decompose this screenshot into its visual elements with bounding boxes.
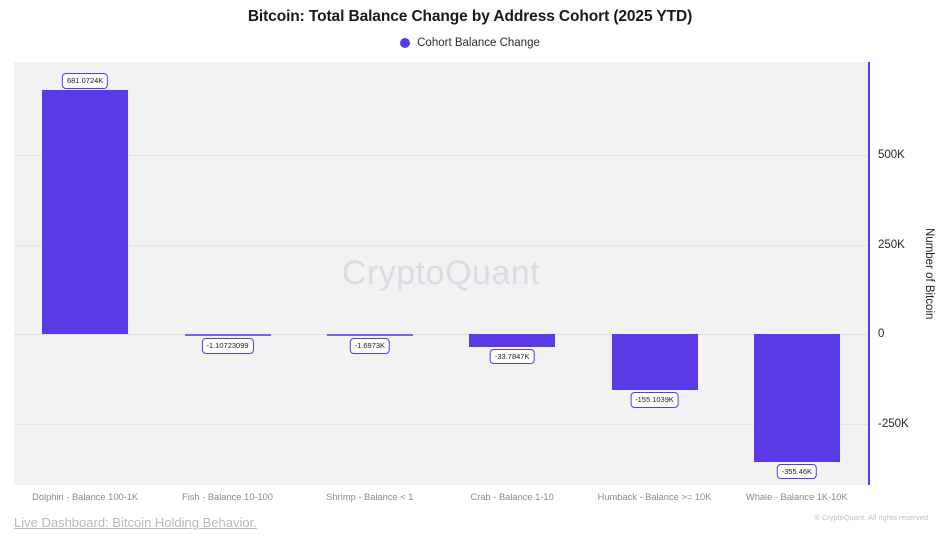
y-axis-spine xyxy=(868,62,870,485)
gridline xyxy=(14,424,868,425)
y-axis-tick-label: -250K xyxy=(878,418,909,430)
x-axis-tick-label: Humback - Balance >= 10K xyxy=(598,492,712,502)
y-axis-tick-label: 250K xyxy=(878,239,905,251)
bar-value-label: -355.46K xyxy=(777,464,817,480)
x-axis-tick-label: Dolphin - Balance 100-1K xyxy=(32,492,138,502)
watermark: CryptoQuant xyxy=(14,62,868,485)
y-axis-tick-label: 0 xyxy=(878,328,884,340)
y-axis-title: Number of Bitcoin xyxy=(920,62,938,485)
x-axis-tick-label: Shrimp - Balance < 1 xyxy=(326,492,413,502)
chart-legend: Cohort Balance Change xyxy=(0,37,940,49)
x-axis-tick-label: Crab - Balance 1-10 xyxy=(471,492,554,502)
bar-value-label: -33.7847K xyxy=(490,349,535,365)
chart-container: Bitcoin: Total Balance Change by Address… xyxy=(0,0,940,556)
bar[interactable] xyxy=(754,334,840,461)
bar[interactable] xyxy=(185,334,271,336)
gridline xyxy=(14,155,868,156)
bar[interactable] xyxy=(327,334,413,336)
x-axis-tick-label: Whale - Balance 1K-10K xyxy=(746,492,848,502)
bar-value-label: 681.0724K xyxy=(62,73,108,89)
bar[interactable] xyxy=(469,334,555,346)
bar-value-label: -1.6973K xyxy=(350,338,390,354)
bar-value-label: -155.1039K xyxy=(630,392,679,408)
copyright-notice: ® CryptoQuant. All rights reserved xyxy=(814,513,928,522)
legend-label: Cohort Balance Change xyxy=(417,37,540,49)
legend-marker-icon xyxy=(400,38,410,48)
zero-line xyxy=(14,334,868,335)
x-axis-tick-label: Fish - Balance 10-100 xyxy=(182,492,273,502)
gridline xyxy=(14,245,868,246)
live-dashboard-link[interactable]: Live Dashboard: Bitcoin Holding Behavior… xyxy=(14,515,257,530)
plot-inner: CryptoQuant 681.0724K-1.10723099-1.6973K… xyxy=(14,62,868,485)
chart-title: Bitcoin: Total Balance Change by Address… xyxy=(0,8,940,26)
plot-area: CryptoQuant 681.0724K-1.10723099-1.6973K… xyxy=(14,62,868,485)
bar[interactable] xyxy=(612,334,698,390)
bar-value-label: -1.10723099 xyxy=(201,338,253,354)
bar[interactable] xyxy=(42,90,128,334)
y-axis-tick-label: 500K xyxy=(878,149,905,161)
